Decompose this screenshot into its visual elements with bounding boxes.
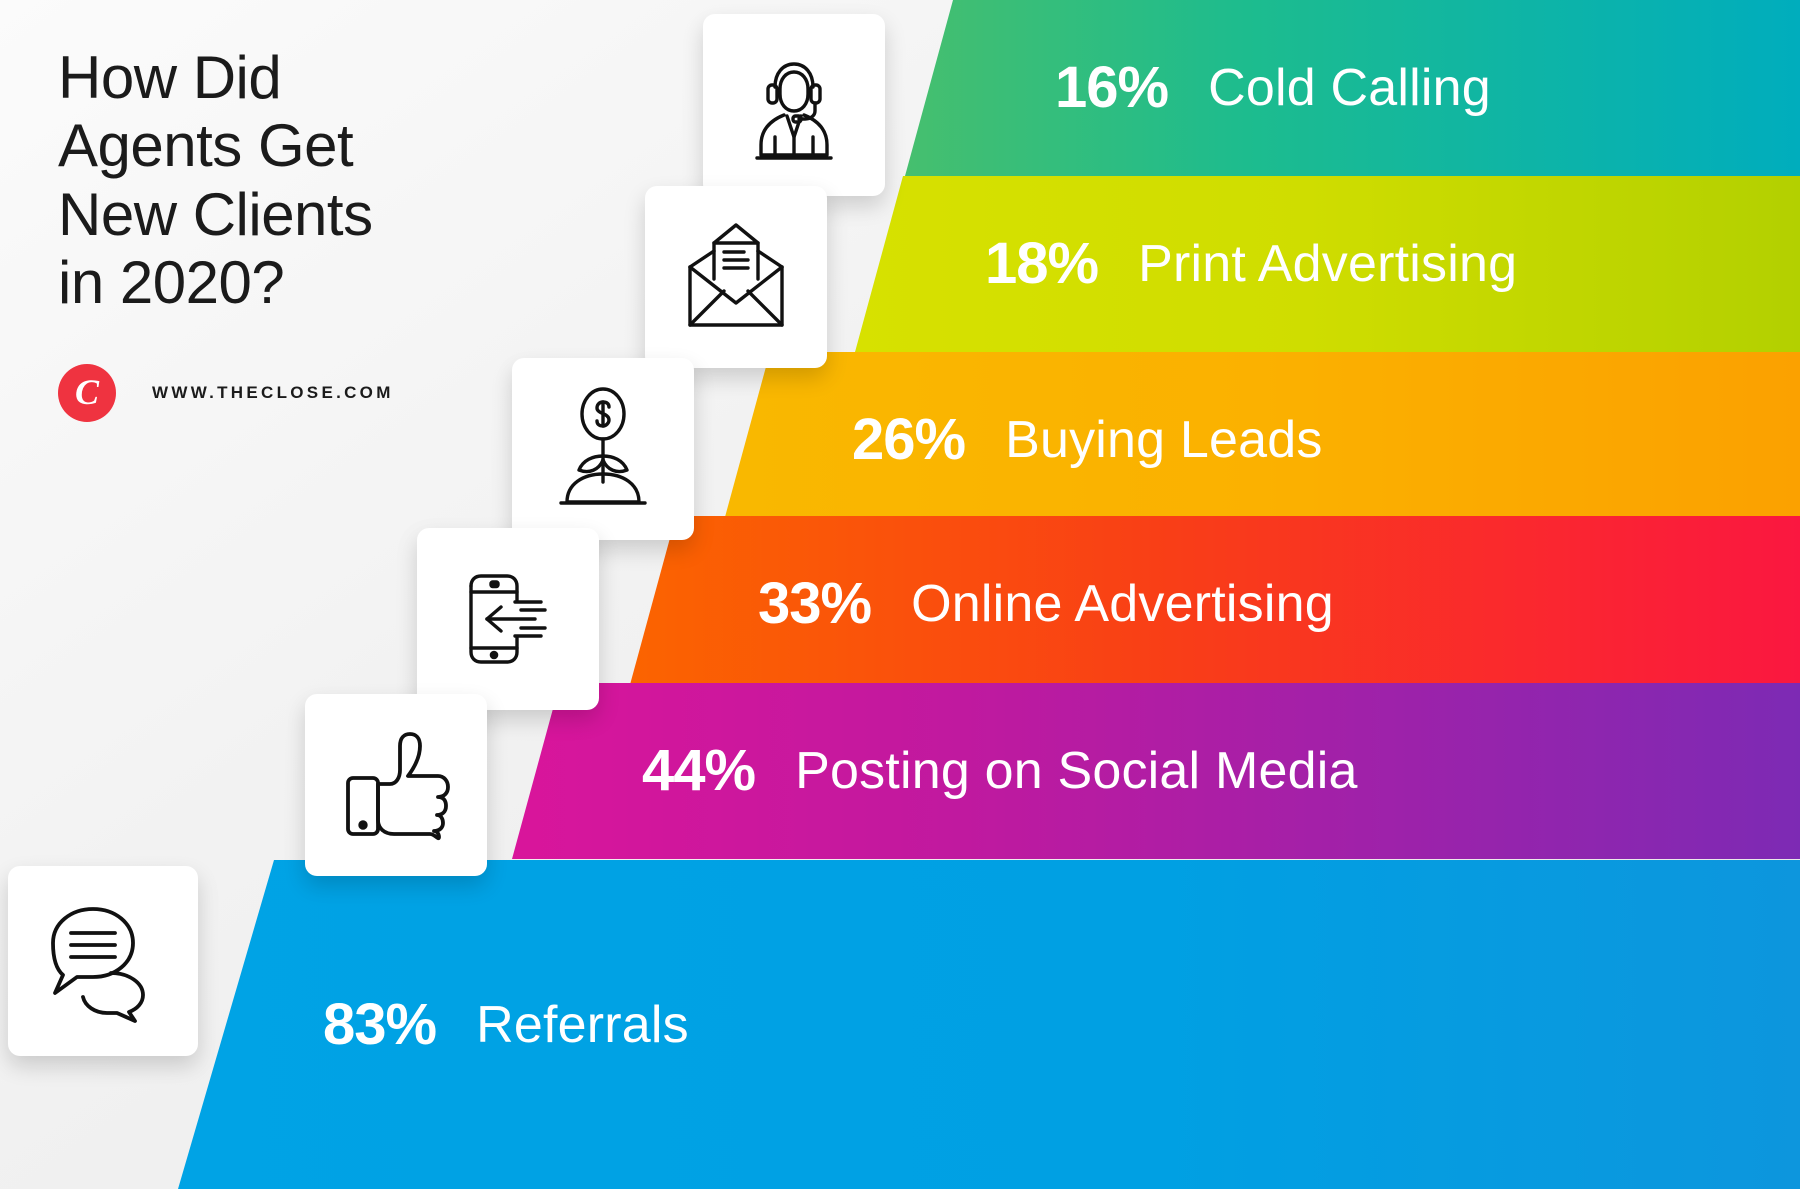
icon-card-referrals xyxy=(8,866,198,1056)
brand-url: WWW.THECLOSE.COM xyxy=(152,383,394,403)
icon-card-cold-calling xyxy=(703,14,885,196)
bar-content: 16% Cold Calling xyxy=(905,0,1491,176)
bar-content: 83% Referrals xyxy=(178,860,689,1189)
logo-letter: C xyxy=(75,374,99,410)
bar-posting-on-social-media: 44% Posting on Social Media xyxy=(512,683,1800,859)
bar-label: Online Advertising xyxy=(911,578,1334,630)
bar-percent: 44% xyxy=(642,742,755,800)
bar-content: 33% Online Advertising xyxy=(628,516,1334,692)
envelope-letter-icon xyxy=(676,221,796,333)
bar-content: 18% Print Advertising xyxy=(855,176,1517,352)
bar-percent: 16% xyxy=(1055,59,1168,117)
infographic-canvas: How Did Agents Get New Clients in 2020? … xyxy=(0,0,1800,1189)
page-title: How Did Agents Get New Clients in 2020? xyxy=(58,44,488,318)
bar-label: Referrals xyxy=(476,999,689,1051)
bar-content: 26% Buying Leads xyxy=(722,352,1323,528)
bar-buying-leads: 26% Buying Leads xyxy=(722,352,1800,528)
bar-percent: 33% xyxy=(758,575,871,633)
bar-print-advertising: 18% Print Advertising xyxy=(855,176,1800,352)
money-plant-icon xyxy=(547,384,659,514)
bar-label: Posting on Social Media xyxy=(795,745,1357,797)
icon-card-buying-leads xyxy=(512,358,694,540)
thumbs-up-icon xyxy=(334,724,458,846)
chat-bubbles-icon xyxy=(37,899,169,1023)
bar-cold-calling: 16% Cold Calling xyxy=(905,0,1800,176)
icon-card-print-advertising xyxy=(645,186,827,368)
mobile-arrow-icon xyxy=(449,558,567,680)
theclose-logo-icon: C xyxy=(58,364,116,422)
bar-online-advertising: 33% Online Advertising xyxy=(628,516,1800,692)
headline-block: How Did Agents Get New Clients in 2020? … xyxy=(58,44,488,422)
icon-card-posting-on-social-media xyxy=(305,694,487,876)
bar-percent: 18% xyxy=(985,235,1098,293)
bar-percent: 83% xyxy=(323,996,436,1054)
bar-referrals: 83% Referrals xyxy=(178,860,1800,1189)
headset-agent-icon xyxy=(739,45,849,165)
bar-content: 44% Posting on Social Media xyxy=(512,683,1358,859)
bar-label: Buying Leads xyxy=(1005,414,1323,466)
brand-row: C WWW.THECLOSE.COM xyxy=(58,364,488,422)
bar-label: Print Advertising xyxy=(1138,238,1517,290)
bar-percent: 26% xyxy=(852,411,965,469)
icon-card-online-advertising xyxy=(417,528,599,710)
bar-label: Cold Calling xyxy=(1208,62,1491,114)
